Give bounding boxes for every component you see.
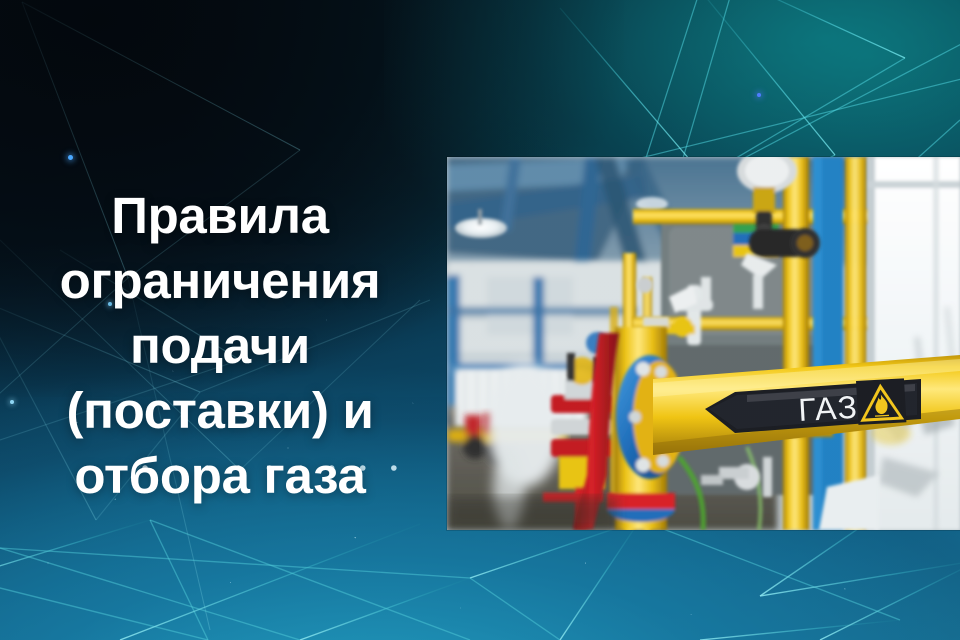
title-line-4: (поставки) и xyxy=(0,378,440,443)
gas-station-photo: ГАЗ xyxy=(447,157,960,530)
title-line-5: отбора газа xyxy=(0,443,440,508)
poster-slide: Правила ограничения подачи (поставки) и … xyxy=(0,0,960,640)
poster-title: Правила ограничения подачи (поставки) и … xyxy=(0,183,440,508)
accent-dot-1 xyxy=(68,155,73,160)
accent-dot-2 xyxy=(757,93,761,97)
title-line-1: Правила xyxy=(0,183,440,248)
title-line-3: подачи xyxy=(0,313,440,378)
title-line-2: ограничения xyxy=(0,248,440,313)
